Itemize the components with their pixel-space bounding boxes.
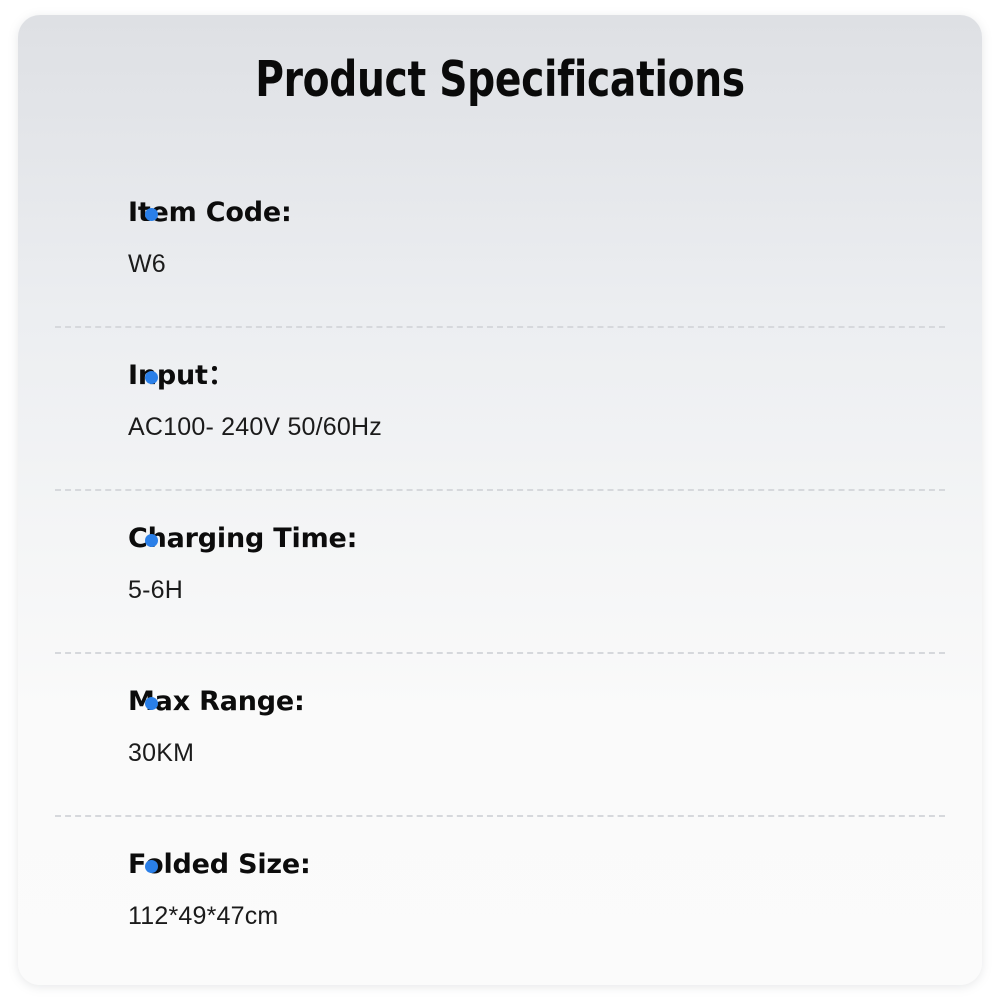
spec-item-unfolded-size: Unfolded Size 112*49*111cm bbox=[500, 654, 982, 817]
spec-item-input: Input： AC100- 240V 50/60Hz bbox=[18, 328, 500, 491]
table-row: Charging Time: 5-6H Max Speed: 35KM/H bbox=[18, 491, 982, 654]
spec-item-net-weight: Net Weight: 15 kg bbox=[500, 817, 982, 980]
bullet-icon bbox=[145, 697, 158, 710]
table-row: Folded Size: 112*49*47cm Net Weight: 15 … bbox=[18, 817, 982, 980]
spec-item-max-speed: Max Speed: 35KM/H bbox=[500, 491, 982, 654]
table-row: Input： AC100- 240V 50/60Hz Output: DC 42… bbox=[18, 328, 982, 491]
spec-item-output: Output: DC 42V 1.5A bbox=[500, 328, 982, 491]
spec-value: 5-6H bbox=[128, 575, 500, 605]
spec-item-charging-time: Charging Time: 5-6H bbox=[18, 491, 500, 654]
spec-value: AC100- 240V 50/60Hz bbox=[128, 412, 500, 442]
spec-value: 112*49*47cm bbox=[128, 901, 500, 931]
specifications-grid: Item Code: W6 Battery Capacity： 7.8Ah In… bbox=[18, 165, 982, 980]
table-row: Item Code: W6 Battery Capacity： 7.8Ah bbox=[18, 165, 982, 328]
spec-value: W6 bbox=[128, 249, 500, 279]
table-row: Max Range: 30KM Unfolded Size 112*49*111… bbox=[18, 654, 982, 817]
spec-label: Folded Size: bbox=[128, 848, 500, 882]
spec-item-battery-capacity: Battery Capacity： 7.8Ah bbox=[500, 165, 982, 328]
spec-item-item-code: Item Code: W6 bbox=[18, 165, 500, 328]
spec-label: Input： bbox=[128, 359, 500, 393]
spec-label: Max Range: bbox=[128, 685, 500, 719]
spec-item-folded-size: Folded Size: 112*49*47cm bbox=[18, 817, 500, 980]
bullet-icon bbox=[145, 208, 158, 221]
page-title: Product Specifications bbox=[114, 51, 885, 108]
spec-value: 30KM bbox=[128, 738, 500, 768]
spec-label: Charging Time: bbox=[128, 522, 500, 556]
bullet-icon bbox=[145, 371, 158, 384]
spec-item-max-range: Max Range: 30KM bbox=[18, 654, 500, 817]
bullet-icon bbox=[145, 534, 158, 547]
product-specifications-card: Product Specifications Item Code: W6 Bat… bbox=[18, 15, 982, 985]
spec-label: Item Code: bbox=[128, 196, 500, 230]
bullet-icon bbox=[145, 860, 158, 873]
